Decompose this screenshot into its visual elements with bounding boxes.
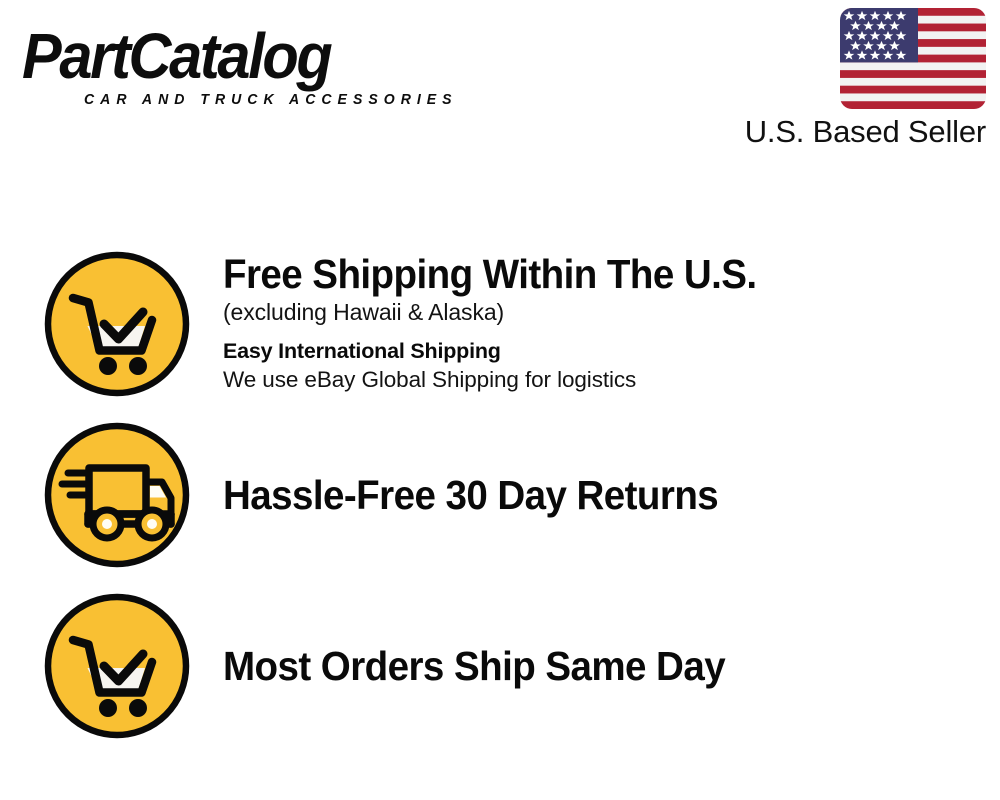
page-header: PartCatalog CAR AND TRUCK ACCESSORIES — [0, 0, 1000, 175]
brand-tagline: CAR AND TRUCK ACCESSORIES — [84, 92, 458, 108]
us-based-seller-badge: U.S. Based Seller — [716, 8, 986, 149]
feature-subtitle: (excluding Hawaii & Alaska) — [223, 297, 982, 328]
delivery-truck-icon — [42, 420, 192, 570]
seller-caption: U.S. Based Seller — [716, 115, 986, 149]
feature-sub-strong: Easy International Shipping — [223, 338, 982, 365]
feature-title: Most Orders Ship Same Day — [223, 643, 936, 689]
us-flag-icon — [840, 8, 986, 109]
feature-title: Free Shipping Within The U.S. — [223, 251, 936, 297]
feature-text-block: Most Orders Ship Same Day — [223, 643, 982, 689]
feature-text-block: Free Shipping Within The U.S. (excluding… — [223, 251, 982, 397]
brand-wordmark: PartCatalog — [22, 22, 459, 90]
feature-row: Most Orders Ship Same Day — [42, 591, 982, 741]
feature-row: Hassle-Free 30 Day Returns — [42, 420, 982, 570]
feature-row: Free Shipping Within The U.S. (excluding… — [42, 249, 982, 399]
feature-sub-note: We use eBay Global Shipping for logistic… — [223, 365, 982, 395]
shopping-cart-check-icon — [42, 591, 192, 741]
feature-text-block: Hassle-Free 30 Day Returns — [223, 472, 982, 518]
feature-title: Hassle-Free 30 Day Returns — [223, 472, 936, 518]
brand-logo[interactable]: PartCatalog CAR AND TRUCK ACCESSORIES — [22, 22, 492, 117]
shopping-cart-check-icon — [42, 249, 192, 399]
